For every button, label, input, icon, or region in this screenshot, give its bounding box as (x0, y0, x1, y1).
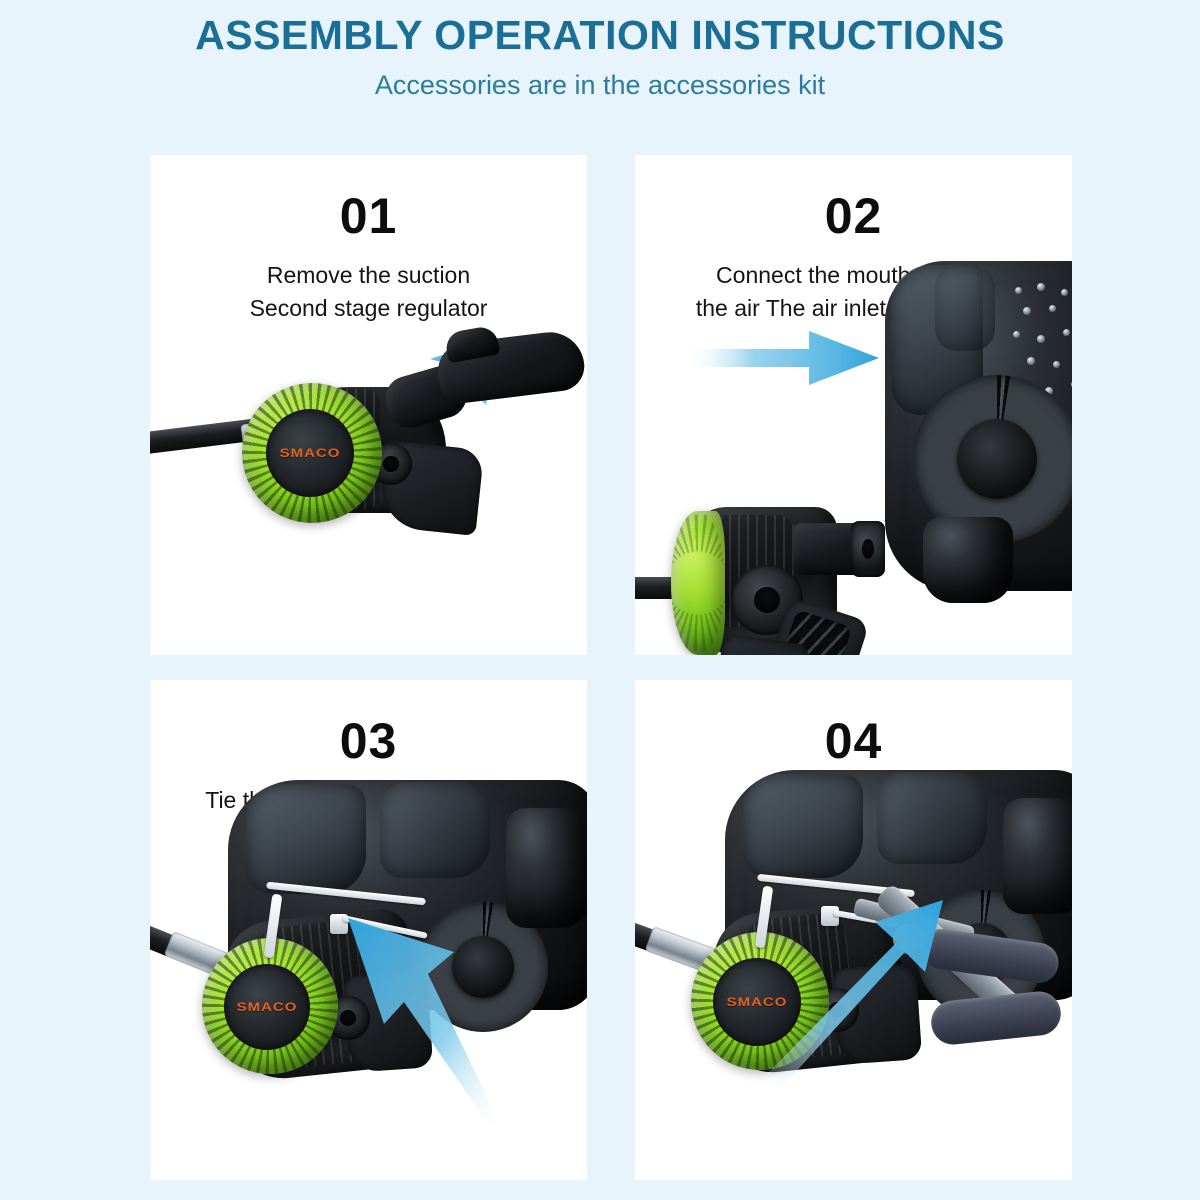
regulator-logo-hub: SMACO (266, 409, 354, 497)
mask-chin-strap-mount (923, 517, 1013, 603)
mask-lens-right (877, 772, 987, 864)
mask-inlet-opening (635, 367, 681, 415)
step-03-number: 03 (150, 716, 587, 766)
step-04-illustration: SMACO (635, 828, 1072, 1180)
step-card-02: 02 Connect the mouthpiece to the air The… (635, 155, 1072, 655)
step-card-03: 03 Tie the zipper on the connection (150, 680, 587, 1180)
mask-lens-right (380, 782, 490, 878)
direction-arrow-up-left-icon (318, 906, 498, 1136)
direction-arrow-right-icon (683, 329, 883, 387)
poster-header: ASSEMBLY OPERATION INSTRUCTIONS Accessor… (0, 0, 1200, 101)
steps-grid: 01 Remove the suction Second stage regul… (150, 155, 1072, 1180)
mask-skirt-highlight (935, 265, 995, 351)
step-01-caption: Remove the suction Second stage regulato… (167, 259, 569, 324)
mask-side-strap-mount (1003, 798, 1072, 914)
mask-lens (743, 774, 863, 878)
step-01-illustration: SMACO (150, 325, 587, 655)
page-title: ASSEMBLY OPERATION INSTRUCTIONS (0, 14, 1200, 57)
instruction-poster: ASSEMBLY OPERATION INSTRUCTIONS Accessor… (0, 0, 1200, 1200)
step-01-caption-line1: Remove the suction (167, 259, 569, 292)
step-04-number: 04 (635, 716, 1072, 766)
step-02-illustration (635, 305, 1072, 655)
brand-logo: SMACO (280, 446, 341, 460)
step-01-caption-line2: Second stage regulator (167, 292, 569, 325)
regulator-logo-hub: SMACO (224, 964, 310, 1050)
step-card-01: 01 Remove the suction Second stage regul… (150, 155, 587, 655)
step-02-number: 02 (635, 191, 1072, 241)
direction-arrow-up-left-icon (747, 896, 947, 1096)
step-01-number: 01 (150, 191, 587, 241)
green-regulator-cover (671, 511, 725, 655)
mask-lens (246, 784, 366, 894)
step-card-04: 04 Subtract the excess (635, 680, 1072, 1180)
step-01-header: 01 Remove the suction Second stage regul… (150, 155, 587, 324)
cover-vent-slots (671, 511, 725, 655)
step-03-illustration: SMACO (150, 828, 587, 1180)
connector-stem-opening (851, 521, 885, 577)
page-subtitle: Accessories are in the accessories kit (0, 71, 1200, 101)
mask-side-strap-mount (506, 808, 587, 928)
brand-logo: SMACO (237, 1000, 298, 1014)
